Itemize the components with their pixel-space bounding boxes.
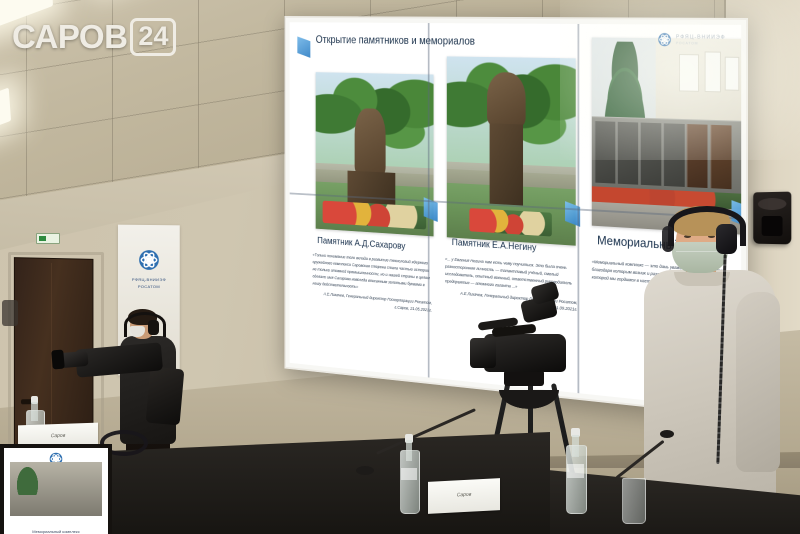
photo-negin xyxy=(447,56,576,245)
name-card-text: Саров xyxy=(18,432,98,441)
exit-sign-icon xyxy=(36,233,60,244)
table-name-card: Саров xyxy=(428,478,500,514)
headphone-earcup xyxy=(716,224,737,254)
headphone-earcup xyxy=(148,320,159,335)
rosatom-logo: РФЯЦ-ВНИИЭФ РОСАТОМ xyxy=(657,32,726,47)
screenshot-root: РФЯЦ-ВНИИЭФ РОСАТОМ xyxy=(0,0,800,534)
drinking-glass[interactable] xyxy=(622,478,646,524)
camera-battery-pack xyxy=(146,367,185,426)
banner-sublabel: РОСАТОМ xyxy=(118,284,180,291)
quote-text: «Только понимание того вклада в развитие… xyxy=(313,252,430,288)
brand-line-2: РОСАТОМ xyxy=(676,41,726,46)
channel-watermark: САРОВ 24 xyxy=(12,18,176,56)
camera-lens-hood xyxy=(470,338,496,368)
headphone-earcup xyxy=(662,226,674,252)
rosatom-atom-icon xyxy=(657,32,671,47)
name-card-text: Саров xyxy=(428,490,500,500)
camera-top-monitor xyxy=(530,281,560,305)
tripod-mount-plate xyxy=(504,370,544,386)
photo-quote: «Только понимание того вклада в развитие… xyxy=(313,252,432,315)
headphones-icon xyxy=(124,312,166,337)
quote-attribution: А.Е.Лихачев, Генеральный директор Госкор… xyxy=(313,290,432,314)
slide-title: Открытие памятников и мемориалов xyxy=(316,35,475,48)
slide-corner-accent xyxy=(297,36,310,57)
microphone-head xyxy=(356,466,374,475)
rosatom-atom-icon xyxy=(138,249,160,271)
board-caption: Мемориальный комплекс xyxy=(4,529,108,534)
person-arm xyxy=(736,292,780,472)
microphone-head xyxy=(660,430,674,438)
water-bottle[interactable] xyxy=(566,428,585,514)
board-photo xyxy=(10,462,102,516)
display-board: Мемориальный комплекс xyxy=(0,444,112,534)
water-bottle[interactable] xyxy=(400,434,418,514)
watermark-channel: 24 xyxy=(130,18,176,56)
photo-caption: Памятник А.Д.Сахарову xyxy=(317,236,405,252)
watermark-name: САРОВ xyxy=(12,18,127,56)
camera-lens-hood xyxy=(51,350,65,370)
camera-body xyxy=(484,334,566,372)
photo-sakharov xyxy=(316,72,434,236)
tripod-head xyxy=(494,390,564,412)
wall-speaker-left xyxy=(2,300,18,326)
